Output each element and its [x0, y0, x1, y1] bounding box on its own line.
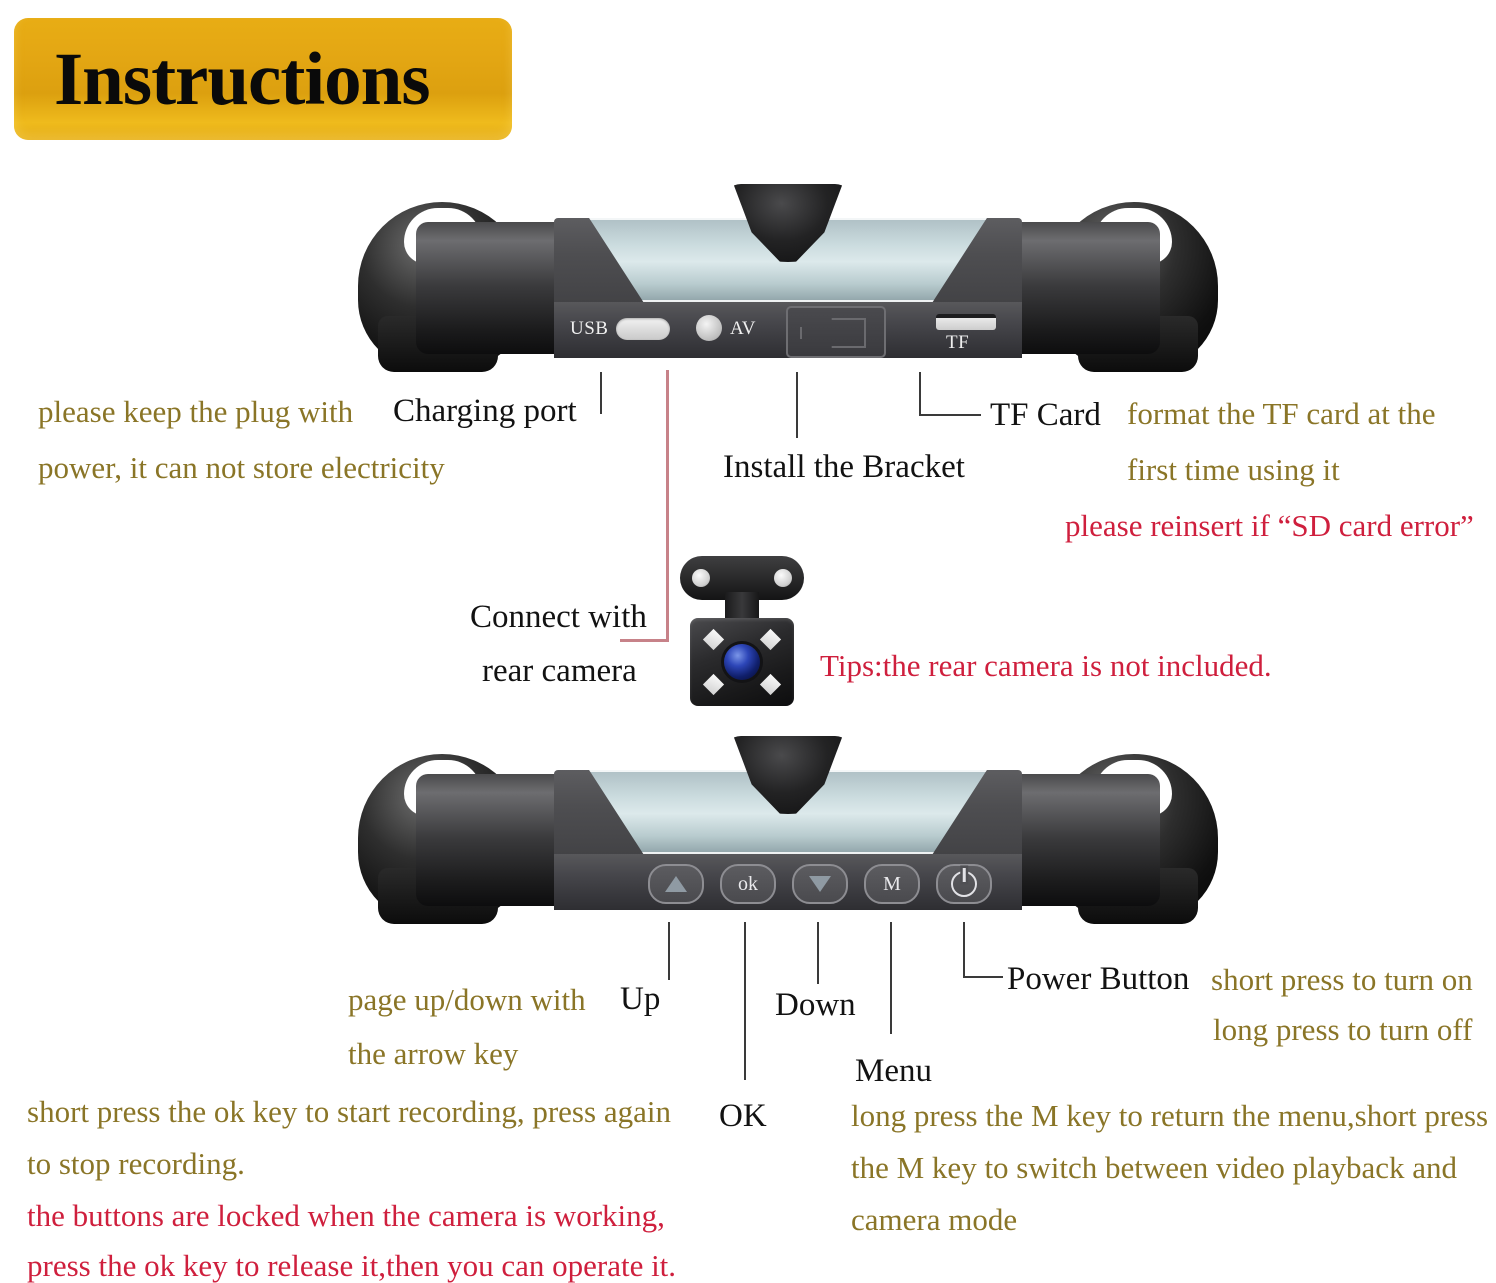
ok-note-line1: short press the ok key to start recordin…: [27, 1090, 671, 1134]
center-body: USB AV TF: [554, 218, 1022, 358]
screw-hole-right: [774, 569, 792, 587]
up-label: Up: [620, 976, 660, 1023]
right-barrel: [1000, 222, 1160, 354]
power-symbol-icon: [951, 871, 977, 897]
tf-label: TF: [946, 332, 969, 354]
menu-letter-icon: M: [883, 873, 901, 896]
left-barrel-2: [416, 774, 576, 906]
power-button[interactable]: [936, 864, 992, 904]
rear-camera-module: [676, 556, 808, 706]
leader-line-ok: [744, 922, 746, 1080]
led-bottom-right: [760, 674, 781, 695]
power-button-label: Power Button: [1007, 956, 1189, 1003]
bracket-slot-icon[interactable]: [786, 306, 886, 358]
screw-hole-left: [692, 569, 710, 587]
arrow-note-line2: the arrow key: [348, 1032, 518, 1076]
charging-port-label: Charging port: [393, 388, 577, 435]
camera-body: [690, 618, 794, 706]
ok-label: OK: [719, 1093, 767, 1140]
bottom-device-button-side: ok M: [358, 748, 1218, 928]
tf-note-line1: format the TF card at the: [1127, 392, 1435, 436]
menu-button[interactable]: M: [864, 864, 920, 904]
tf-card-slot-icon[interactable]: [936, 314, 996, 330]
left-barrel: [416, 222, 576, 354]
connect-rear-line2: rear camera: [482, 648, 637, 695]
arrow-note-line1: page up/down with: [348, 978, 586, 1022]
led-bottom-left: [703, 674, 724, 695]
ok-button[interactable]: ok: [720, 864, 776, 904]
menu-label: Menu: [855, 1048, 932, 1095]
port-bar: USB AV TF: [554, 302, 1022, 358]
leader-line-down: [817, 922, 819, 984]
center-body-2: ok M: [554, 770, 1022, 910]
menu-note-line1: long press the M key to return the menu,…: [851, 1094, 1488, 1138]
usb-label: USB: [570, 318, 608, 340]
top-device-port-side: USB AV TF: [358, 196, 1218, 376]
triangle-down-icon: [809, 876, 831, 892]
install-bracket-label: Install the Bracket: [723, 444, 965, 491]
leader-line-tf-elbow: [919, 414, 981, 416]
leader-line-install-bracket: [796, 372, 798, 438]
power-note-line2: long press to turn off: [1213, 1008, 1472, 1052]
menu-note-line3: camera mode: [851, 1198, 1017, 1242]
menu-note-line2: the M key to switch between video playba…: [851, 1146, 1457, 1190]
led-top-left: [703, 629, 724, 650]
down-label: Down: [775, 982, 856, 1029]
av-jack-icon[interactable]: [696, 315, 722, 341]
leader-line-av-vertical: [666, 370, 669, 642]
usb-slot-icon[interactable]: [616, 318, 670, 340]
button-bar: ok M: [554, 854, 1022, 910]
tf-note-line2: first time using it: [1127, 448, 1340, 492]
ok-note-line2: to stop recording.: [27, 1142, 245, 1186]
down-button[interactable]: [792, 864, 848, 904]
lock-warning-line2: press the ok key to release it,then you …: [27, 1244, 676, 1283]
leader-line-power-elbow: [963, 976, 1003, 978]
power-note-line1: short press to turn on: [1211, 958, 1473, 1002]
page-title: Instructions: [54, 42, 430, 117]
tf-card-label: TF Card: [990, 392, 1101, 439]
av-label: AV: [730, 318, 756, 340]
right-barrel-2: [1000, 774, 1160, 906]
triangle-up-icon: [665, 876, 687, 892]
tf-warning: please reinsert if “SD card error”: [1065, 504, 1474, 548]
lock-warning-line1: the buttons are locked when the camera i…: [27, 1194, 665, 1238]
up-button[interactable]: [648, 864, 704, 904]
connect-rear-line1: Connect with: [470, 594, 647, 641]
leader-line-tf-vertical: [919, 372, 921, 416]
charging-note-line1: please keep the plug with: [38, 390, 353, 434]
leader-line-power-vertical: [963, 922, 965, 978]
rear-camera-tip: Tips:the rear camera is not included.: [820, 644, 1272, 688]
led-top-right: [760, 629, 781, 650]
instruction-sheet: Instructions USB: [0, 0, 1496, 1283]
leader-line-menu: [890, 922, 892, 1034]
leader-line-up: [668, 922, 670, 980]
leader-line-charging-port: [600, 372, 602, 414]
title-banner: Instructions: [14, 18, 512, 140]
camera-lens: [724, 644, 760, 680]
ok-text-icon: ok: [738, 873, 758, 896]
charging-note-line2: power, it can not store electricity: [38, 446, 445, 490]
